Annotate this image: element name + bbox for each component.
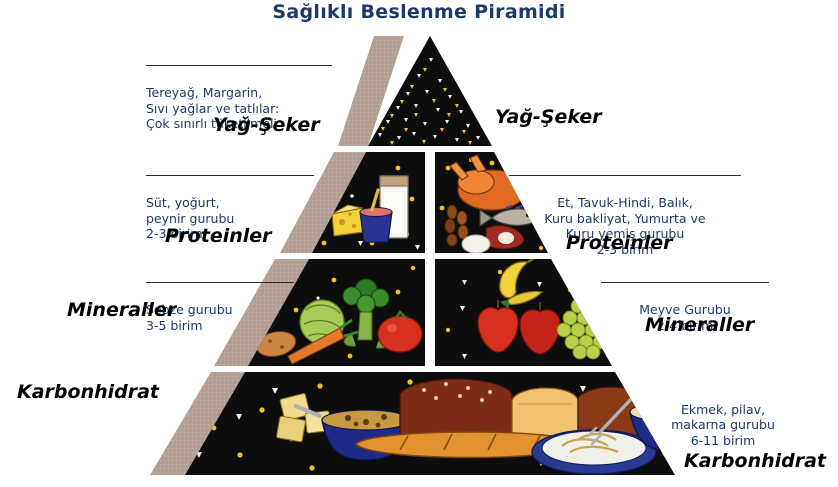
tier-fruits [435, 258, 612, 366]
tier-label-mineral-left: Mineraller [67, 299, 176, 321]
rye-loaf-icon [400, 379, 512, 438]
callout-rule [509, 175, 741, 176]
callout-grain: Ekmek, pilav, makarna gurubu 6-11 birim [640, 386, 806, 448]
callout-rule [146, 175, 314, 176]
tier-label-protein-left: Proteinler [165, 225, 272, 247]
callout-rule [601, 282, 769, 283]
tier-label-protein-right: Proteinler [566, 232, 673, 254]
pasta-plate-icon [532, 430, 656, 474]
nutrition-pyramid-infographic: Sağlıklı Beslenme Piramidi [0, 0, 838, 487]
tier-label-fat-sugar-left: Yağ-Şeker [213, 114, 320, 136]
callout-rule [146, 65, 332, 66]
tier-label-carb-right: Karbonhidrat [684, 450, 826, 472]
tier-label-carb-left: Karbonhidrat [17, 381, 159, 403]
egg-icon [462, 235, 490, 253]
tier-label-mineral-right: Mineraller [645, 314, 754, 336]
tier-label-fat-sugar-right: Yağ-Şeker [495, 106, 602, 128]
callout-rule [146, 282, 294, 283]
callout-grain-text: Ekmek, pilav, makarna gurubu 6-11 birim [671, 402, 775, 448]
